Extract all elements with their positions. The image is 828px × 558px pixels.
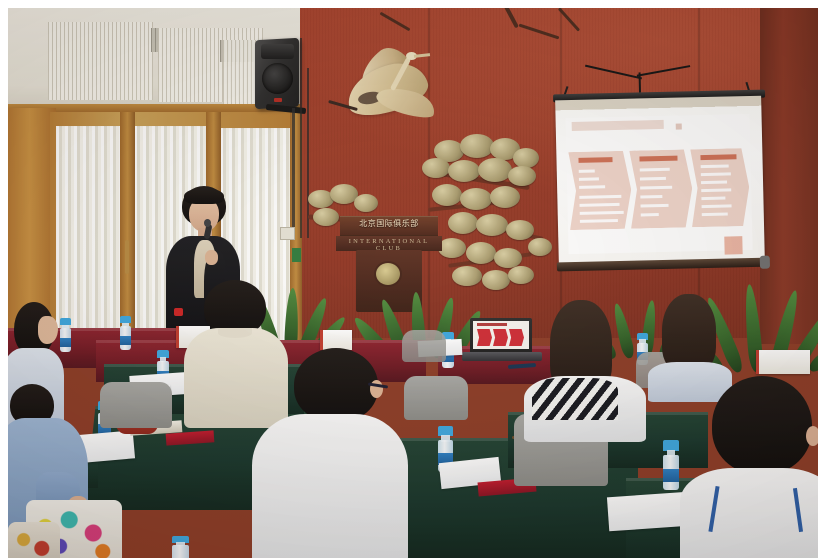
conference-photograph: 北京国际俱乐部 INTERNATIONAL CLUB [8, 8, 818, 558]
presentation-slide [566, 114, 753, 254]
pine-foliage [528, 238, 552, 256]
presenter-hand [205, 250, 218, 265]
attendee-right-front [680, 376, 818, 558]
photo-frame: 北京国际俱乐部 INTERNATIONAL CLUB [0, 0, 828, 558]
pine-foliage [476, 214, 508, 236]
pine-foliage [448, 160, 480, 182]
laptop-slide-col-2 [493, 329, 508, 346]
water-bottle[interactable] [172, 536, 189, 558]
cable-2 [307, 68, 309, 238]
pine-foliage [513, 148, 539, 168]
presenter-badge [174, 308, 183, 316]
speaker-cable-pole [292, 108, 295, 236]
pine-foliage [506, 220, 534, 240]
pine-foliage [490, 186, 520, 208]
pine-foliage [508, 166, 536, 186]
chair [404, 376, 468, 420]
screen-pull-knob[interactable] [760, 256, 770, 269]
pine-foliage [448, 212, 478, 234]
pine-foliage [508, 266, 534, 284]
laptop-slide-title [477, 323, 507, 326]
club-emblem-icon [376, 263, 400, 285]
pine-foliage [422, 158, 450, 178]
chair [402, 330, 446, 362]
venue-sign-chinese: 北京国际俱乐部 [340, 216, 438, 236]
chair [100, 382, 172, 428]
wall-outlet [280, 227, 295, 240]
slide-marker-icon [676, 124, 682, 130]
table-tent-card [756, 350, 810, 374]
presenter-fringe [184, 188, 224, 204]
pine-foliage [466, 242, 496, 264]
water-bottle[interactable] [663, 440, 679, 490]
pine-foliage [438, 238, 466, 258]
pine-foliage [478, 158, 512, 182]
attendee-collar [218, 328, 252, 338]
pine-foliage [313, 208, 339, 226]
venue-sign-chinese-text: 北京国际俱乐部 [340, 218, 438, 229]
water-bottle[interactable] [120, 316, 131, 350]
attendee-ear [806, 426, 818, 446]
pa-speaker-woofer-icon [262, 63, 293, 94]
pine-foliage [460, 188, 492, 210]
attendee-center [252, 348, 408, 558]
attendee-hair [662, 294, 716, 372]
attendee-face [38, 316, 58, 344]
laptop-slide-col-1 [477, 329, 492, 346]
pine-foliage [432, 184, 462, 206]
laptop-lid [470, 318, 532, 354]
pine-foliage [354, 194, 378, 212]
slide-column-1 [568, 151, 632, 230]
attendee-right-mid [524, 300, 646, 442]
attendee-hair [712, 376, 812, 474]
pa-speaker-badge [274, 98, 282, 102]
attendee-top [252, 414, 408, 558]
microphone-capsule-icon [204, 219, 211, 227]
door-handle[interactable] [125, 240, 129, 274]
pine-foliage [452, 266, 482, 286]
pine-foliage [494, 248, 522, 268]
laptop-display [473, 321, 529, 349]
slide-title-bar [572, 120, 664, 131]
slide-corner-swatch [724, 236, 742, 254]
slide-column-3 [690, 148, 750, 227]
projection-screen[interactable] [551, 84, 770, 279]
attendee-hair [294, 348, 378, 422]
laptop-slide-col-3 [509, 329, 524, 346]
vent-panel-1 [48, 22, 153, 100]
striped-collar [532, 378, 618, 420]
table-tent-card [320, 330, 352, 350]
slide-column-2 [629, 149, 693, 228]
pa-speaker-horn [261, 44, 294, 59]
wall-device-green [292, 248, 301, 262]
cable-1 [300, 38, 302, 238]
venue-sign-english: INTERNATIONAL CLUB [336, 236, 442, 251]
patterned-fabric [8, 522, 60, 558]
screen-canvas [555, 96, 765, 266]
pine-foliage [460, 134, 494, 158]
